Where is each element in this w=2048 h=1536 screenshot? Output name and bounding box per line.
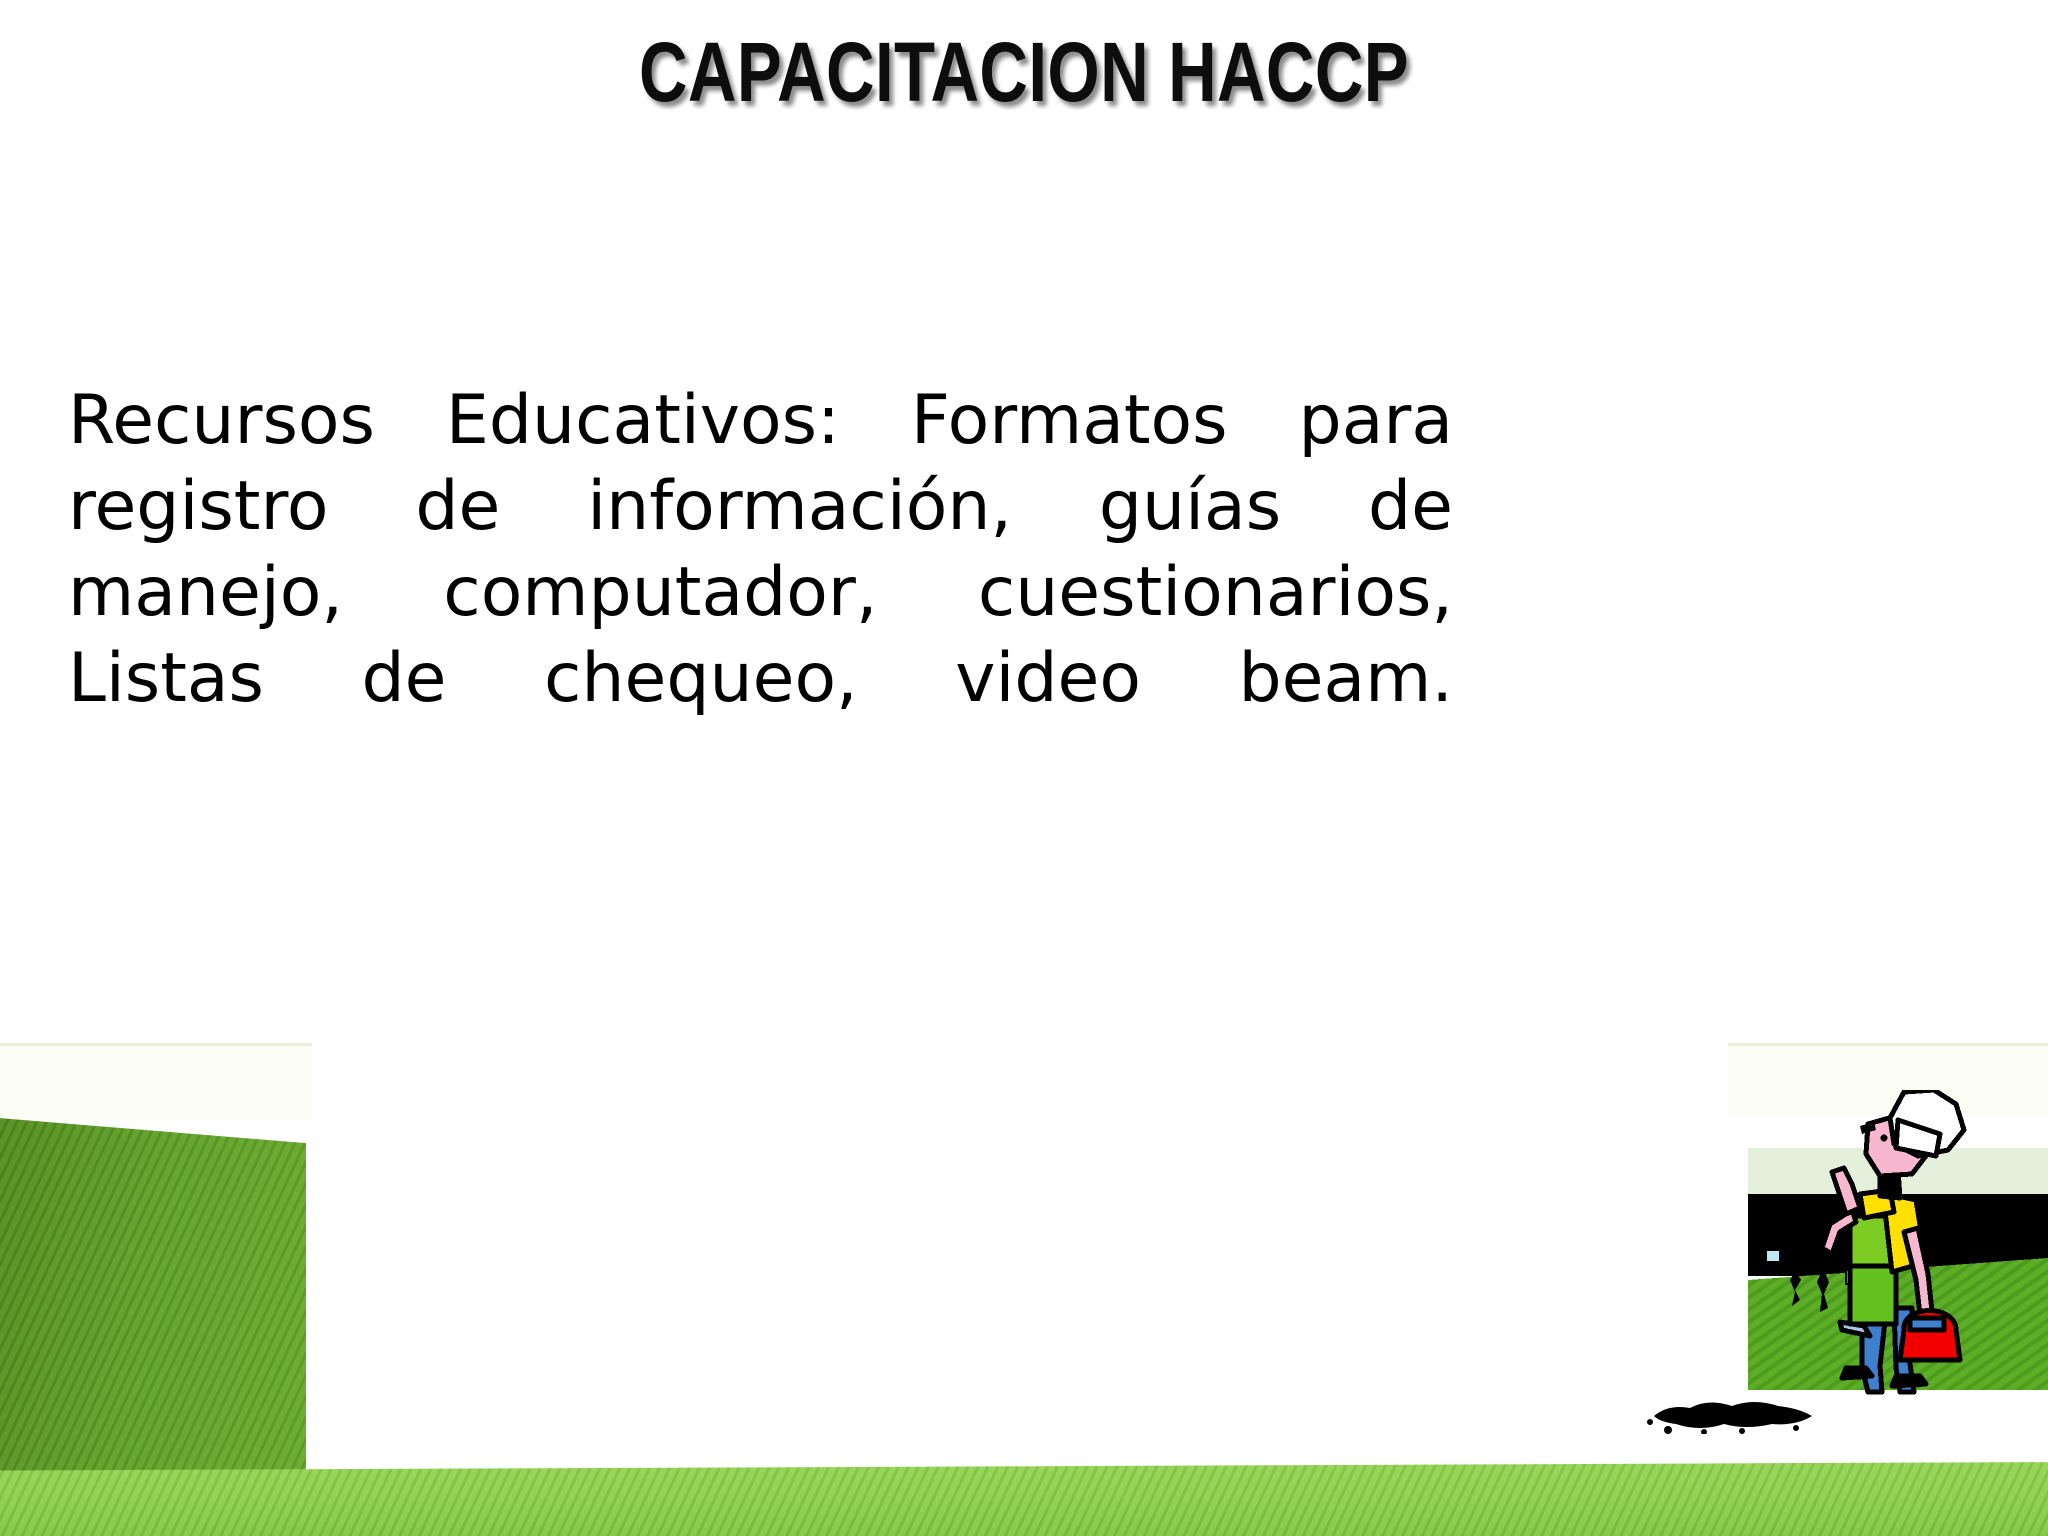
body-paragraph: Recursos Educativos: Formatos para regis… [68, 378, 1453, 808]
pale-panel-left [0, 1046, 312, 1120]
green-left-block [0, 1112, 306, 1492]
ink-splatter [1646, 1400, 1836, 1434]
green-bottom-bar [0, 1452, 2048, 1536]
page-title: CAPACITACION HACCP [205, 26, 1843, 118]
pale-rule-left [0, 1043, 312, 1046]
pale-rule-right [1728, 1043, 2048, 1046]
slide-canvas: CAPACITACION HACCP Recursos Educativos: … [0, 0, 2048, 1536]
